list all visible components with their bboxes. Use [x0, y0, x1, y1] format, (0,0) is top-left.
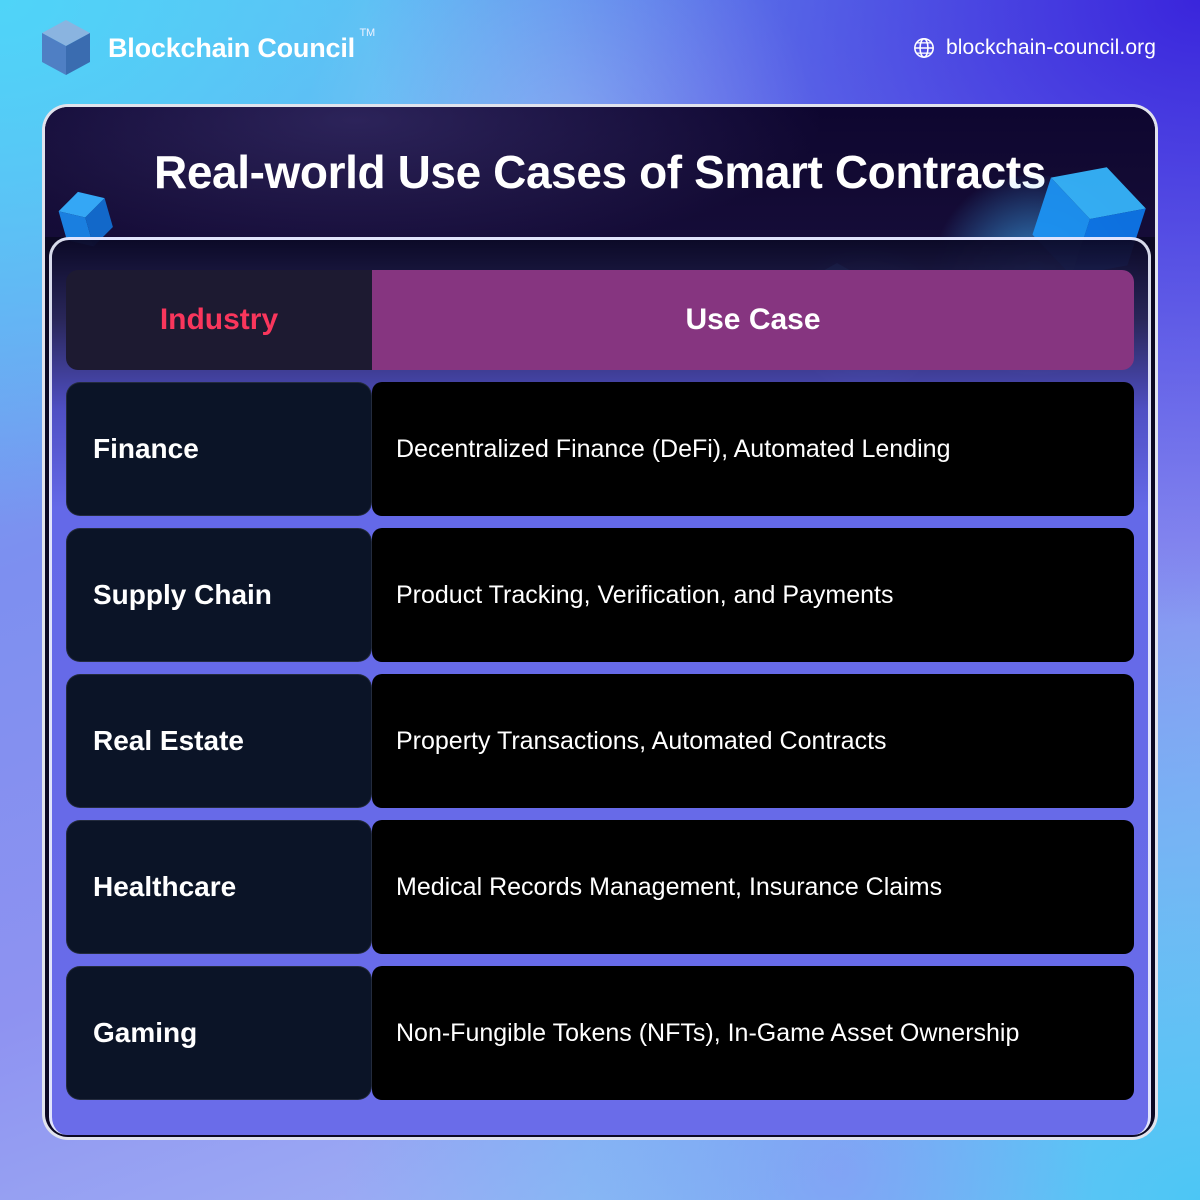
- website-link[interactable]: blockchain-council.org: [913, 36, 1156, 60]
- table-body: Finance Decentralized Finance (DeFi), Au…: [66, 382, 1134, 1100]
- title-band: Real-world Use Cases of Smart Contracts: [45, 107, 1155, 237]
- column-header-use-case: Use Case: [372, 270, 1134, 370]
- top-bar: Blockchain Council TM blockchain-council…: [0, 0, 1200, 96]
- page-title: Real-world Use Cases of Smart Contracts: [154, 145, 1046, 199]
- cell-industry: Gaming: [66, 966, 372, 1100]
- cell-use-case: Decentralized Finance (DeFi), Automated …: [372, 382, 1134, 516]
- table-row: Gaming Non-Fungible Tokens (NFTs), In-Ga…: [66, 966, 1134, 1100]
- brand-name: Blockchain Council TM: [108, 33, 355, 64]
- cell-industry: Supply Chain: [66, 528, 372, 662]
- cell-use-case: Property Transactions, Automated Contrac…: [372, 674, 1134, 808]
- cell-industry: Finance: [66, 382, 372, 516]
- cell-industry: Real Estate: [66, 674, 372, 808]
- cell-use-case: Medical Records Management, Insurance Cl…: [372, 820, 1134, 954]
- website-url-text: blockchain-council.org: [946, 36, 1156, 60]
- globe-icon: [913, 37, 935, 59]
- content-card: Real-world Use Cases of Smart Contracts: [42, 104, 1158, 1140]
- use-cases-table: Industry Use Case Finance Decentralized …: [66, 258, 1134, 1112]
- table-head: Industry Use Case: [66, 270, 1134, 370]
- table-row: Healthcare Medical Records Management, I…: [66, 820, 1134, 954]
- table-row: Real Estate Property Transactions, Autom…: [66, 674, 1134, 808]
- cube-logo-icon: [40, 19, 92, 77]
- brand-lockup[interactable]: Blockchain Council TM: [40, 19, 355, 77]
- poster-root: Blockchain Council TM blockchain-council…: [0, 0, 1200, 1200]
- column-header-industry: Industry: [66, 270, 372, 370]
- brand-name-text: Blockchain Council: [108, 33, 355, 63]
- cell-industry: Healthcare: [66, 820, 372, 954]
- table-header-row: Industry Use Case: [66, 270, 1134, 370]
- table-panel: Industry Use Case Finance Decentralized …: [49, 237, 1151, 1135]
- table-row: Finance Decentralized Finance (DeFi), Au…: [66, 382, 1134, 516]
- cell-use-case: Non-Fungible Tokens (NFTs), In-Game Asse…: [372, 966, 1134, 1100]
- table-row: Supply Chain Product Tracking, Verificat…: [66, 528, 1134, 662]
- cell-use-case: Product Tracking, Verification, and Paym…: [372, 528, 1134, 662]
- trademark-mark: TM: [359, 27, 374, 39]
